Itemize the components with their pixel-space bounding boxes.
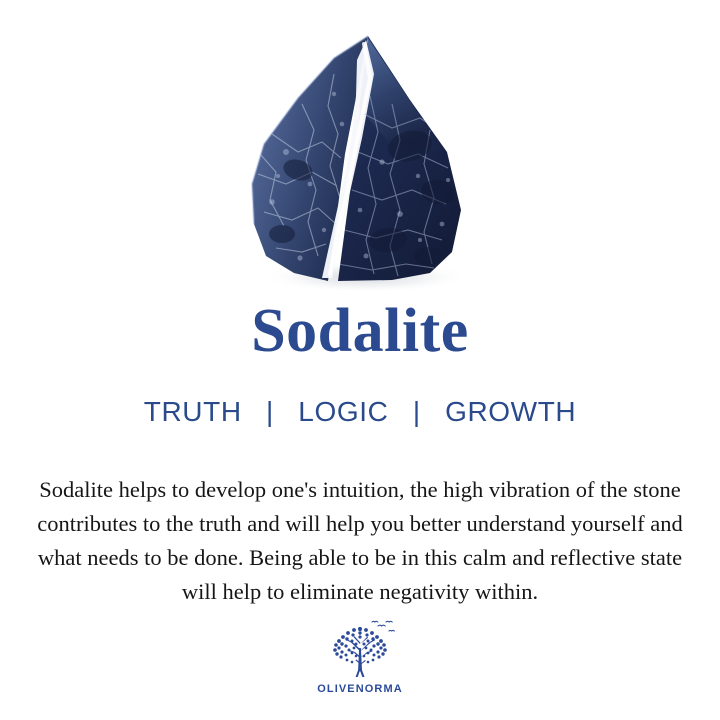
brand-logo: OLIVENORMA bbox=[0, 620, 720, 695]
keyword-list: TRUTH | LOGIC | GROWTH bbox=[0, 398, 720, 426]
keyword-growth: GROWTH bbox=[445, 398, 576, 426]
stone-image-container bbox=[0, 0, 720, 292]
description-text: Sodalite helps to develop one's intuitio… bbox=[22, 473, 698, 609]
keyword-separator: | bbox=[250, 398, 290, 426]
brand-name: OLIVENORMA bbox=[0, 683, 720, 695]
sodalite-info-card: Sodalite TRUTH | LOGIC | GROWTH Sodalite… bbox=[0, 0, 720, 720]
birds-icon bbox=[372, 621, 394, 631]
keyword-logic: LOGIC bbox=[298, 398, 388, 426]
keyword-separator: | bbox=[397, 398, 437, 426]
sodalite-crystal-point-image bbox=[242, 34, 478, 290]
keyword-truth: TRUTH bbox=[144, 398, 242, 426]
tree-icon bbox=[323, 620, 397, 682]
page-title: Sodalite bbox=[0, 300, 720, 362]
